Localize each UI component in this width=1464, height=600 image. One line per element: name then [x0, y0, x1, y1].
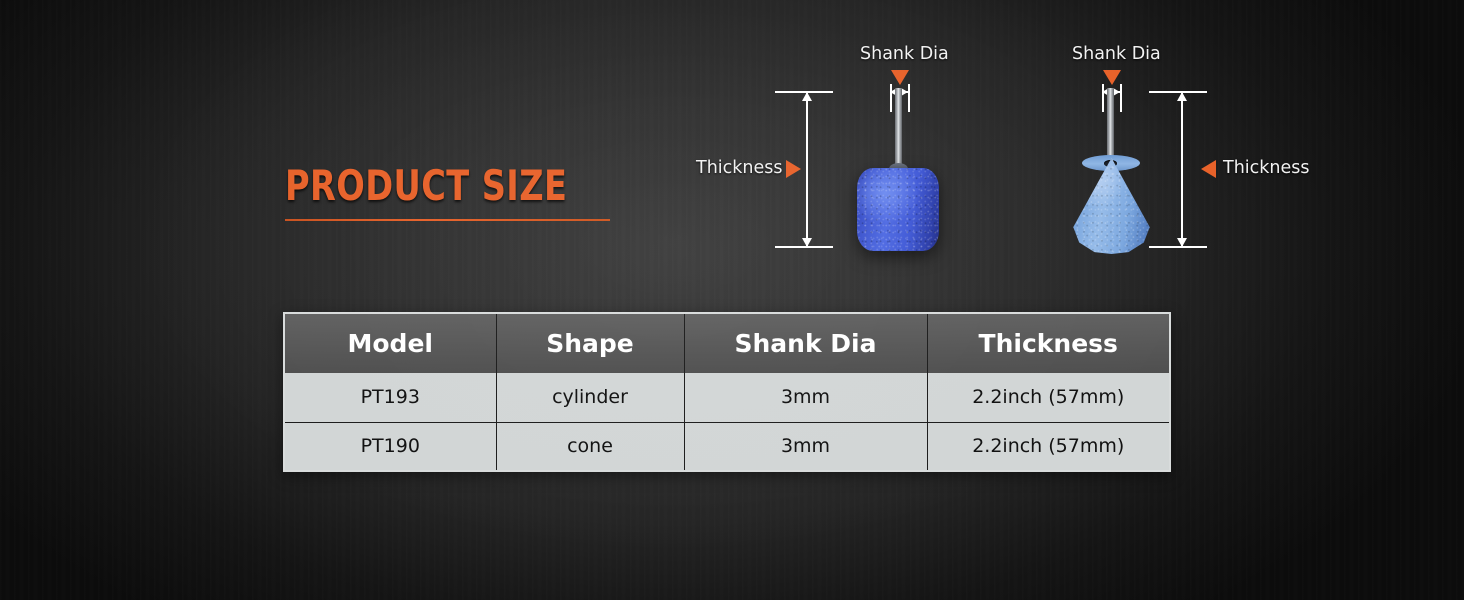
- cell-thickness: 2.2inch (57mm): [927, 373, 1170, 422]
- cylinder-shank-measure-line: [892, 91, 908, 93]
- table-row: PT190 cone 3mm 2.2inch (57mm): [284, 422, 1170, 471]
- cylinder-thickness-extension-top: [775, 91, 833, 93]
- product-spec-table: Model Shape Shank Dia Thickness PT193 cy…: [283, 312, 1171, 472]
- triangle-left-icon: [1201, 160, 1216, 178]
- cylinder-shank-arrow-left: [890, 88, 897, 96]
- triangle-right-icon: [786, 160, 801, 178]
- cone-shank-arrow-right: [1113, 88, 1120, 96]
- cone-shank-rod: [1107, 88, 1114, 171]
- column-header-thickness: Thickness: [927, 313, 1170, 373]
- product-illustrations: Shank Dia Thickness Shank D: [0, 0, 1464, 600]
- cone-shank-measure-line: [1104, 91, 1120, 93]
- cone-thickness-dimension-line: [1181, 92, 1183, 247]
- cell-shank-dia: 3mm: [684, 373, 927, 422]
- cone-thickness-arrow-down: [1177, 238, 1187, 247]
- table-row: PT193 cylinder 3mm 2.2inch (57mm): [284, 373, 1170, 422]
- cell-shape: cylinder: [496, 373, 684, 422]
- cone-thickness-extension-top: [1149, 91, 1207, 93]
- cone-top-face: [1082, 155, 1140, 171]
- triangle-down-icon: [1103, 70, 1121, 85]
- cone-thickness-arrow-up: [1177, 92, 1187, 101]
- column-header-shape: Shape: [496, 313, 684, 373]
- product-size-infographic: PRODUCT SIZE Shank Dia Thickness: [0, 0, 1464, 600]
- title-underline: [285, 219, 610, 221]
- cylinder-shank-dia-label: Shank Dia: [860, 44, 949, 64]
- cone-shank-arrow-left: [1102, 88, 1109, 96]
- cylinder-shank-rod: [895, 88, 902, 170]
- column-header-model: Model: [284, 313, 496, 373]
- cone-thickness-extension-bottom: [1149, 246, 1207, 248]
- cone-shank-tick-left: [1102, 84, 1104, 112]
- cylinder-thickness-dimension-line: [806, 92, 808, 247]
- cylinder-thickness-arrow-down: [802, 238, 812, 247]
- cylinder-thickness-arrow-up: [802, 92, 812, 101]
- cylinder-shank-collar: [889, 163, 908, 175]
- cell-model: PT190: [284, 422, 496, 471]
- cone-thickness-label: Thickness: [1223, 158, 1310, 178]
- cone-shank-hole: [1104, 160, 1117, 167]
- cylinder-thickness-extension-bottom: [775, 246, 833, 248]
- cylinder-shank-tick-right: [908, 84, 910, 112]
- cone-shank-dia-label: Shank Dia: [1072, 44, 1161, 64]
- triangle-down-icon: [891, 70, 909, 85]
- cell-thickness: 2.2inch (57mm): [927, 422, 1170, 471]
- cylinder-shank-tick-left: [890, 84, 892, 112]
- column-header-shank-dia: Shank Dia: [684, 313, 927, 373]
- title-block: PRODUCT SIZE: [285, 163, 615, 209]
- cone-shank-tick-right: [1120, 84, 1122, 112]
- cell-shape: cone: [496, 422, 684, 471]
- table-header-row: Model Shape Shank Dia Thickness: [284, 313, 1170, 373]
- cell-shank-dia: 3mm: [684, 422, 927, 471]
- cell-model: PT193: [284, 373, 496, 422]
- cylinder-sponge-body: [857, 168, 939, 251]
- cone-sponge-body: [1069, 158, 1154, 254]
- page-title: PRODUCT SIZE: [285, 163, 549, 209]
- cylinder-thickness-label: Thickness: [696, 158, 783, 178]
- cylinder-shank-arrow-right: [901, 88, 908, 96]
